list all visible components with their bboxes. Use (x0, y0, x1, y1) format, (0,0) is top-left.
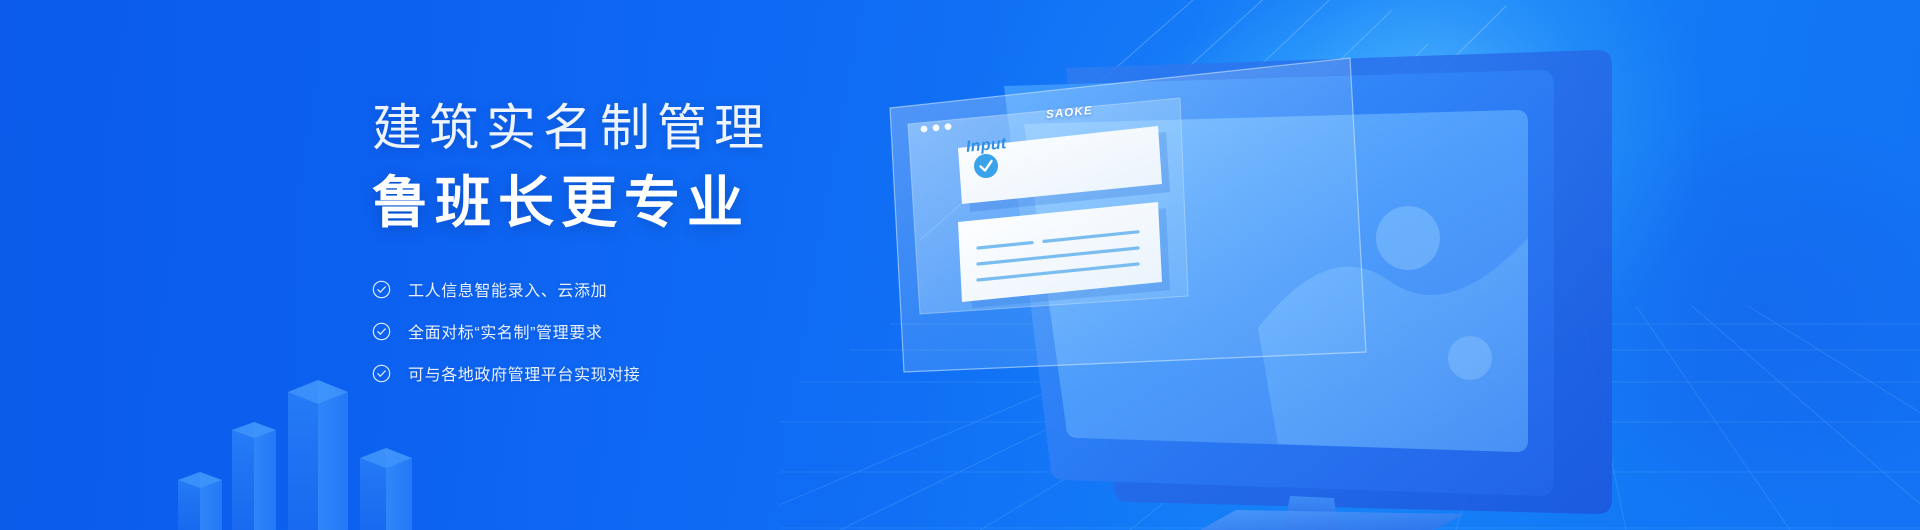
headline-secondary: 鲁班长更专业 (372, 175, 892, 231)
feature-label: 全面对标“实名制”管理要求 (408, 319, 602, 343)
feature-item: 工人信息智能录入、云添加 (372, 275, 892, 303)
promotional-banner: SAOKE Input (0, 0, 1920, 530)
feature-item: 可与各地政府管理平台实现对接 (372, 359, 892, 387)
banner-copy: 建筑实名制管理 鲁班长更专业 工人信息智能录入、云添加 全面对标“实名制”管理要… (372, 103, 892, 387)
check-circle-icon (372, 364, 391, 383)
feature-label: 可与各地政府管理平台实现对接 (408, 361, 640, 385)
check-circle-icon (372, 280, 391, 299)
background-glow-highlight (1180, 0, 1700, 380)
feature-list: 工人信息智能录入、云添加 全面对标“实名制”管理要求 可与各地政府管理平台实现对… (372, 275, 892, 387)
feature-label: 工人信息智能录入、云添加 (408, 277, 607, 301)
check-circle-icon (372, 322, 391, 341)
feature-item: 全面对标“实名制”管理要求 (372, 317, 892, 345)
headline-primary: 建筑实名制管理 (372, 103, 892, 153)
